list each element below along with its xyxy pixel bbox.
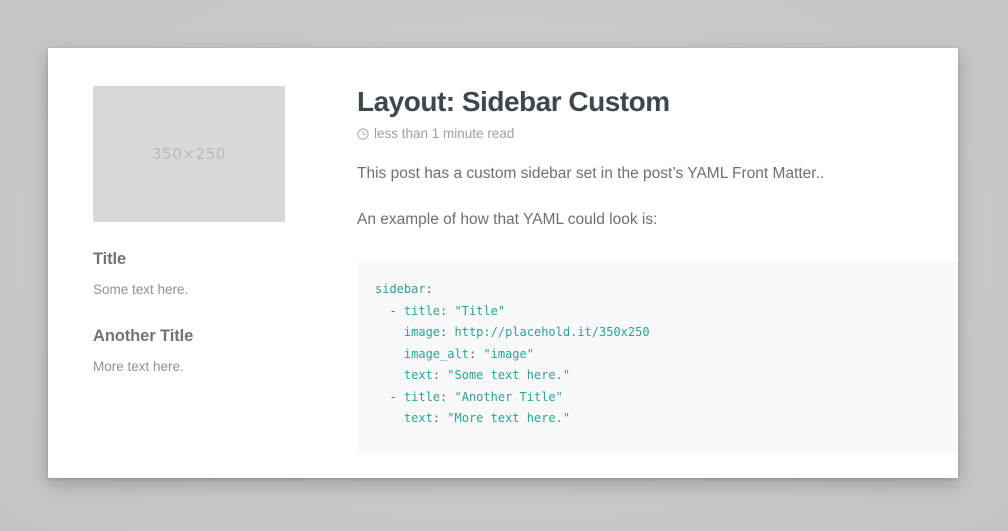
code-block[interactable]: sidebar: - title: "Title" image: http://… [357, 261, 958, 453]
sidebar-block-title: Another Title [93, 327, 285, 346]
sidebar-block-text: Some text here. [93, 281, 285, 300]
clock-icon [357, 128, 369, 140]
post-paragraph: An example of how that YAML could look i… [357, 209, 958, 231]
post-card-inner: 350×250 Title Some text here. Another Ti… [48, 48, 958, 478]
sidebar-block-text: More text here. [93, 358, 285, 377]
post-sidebar: 350×250 Title Some text here. Another Ti… [93, 86, 285, 377]
read-time-label: less than 1 minute read [374, 126, 514, 141]
code-block-content: sidebar: - title: "Title" image: http://… [375, 279, 958, 430]
post-meta: less than 1 minute read [357, 126, 958, 141]
sidebar-image-placeholder-label: 350×250 [152, 145, 226, 163]
sidebar-block: Another Title More text here. [93, 327, 285, 377]
sidebar-image-placeholder: 350×250 [93, 86, 285, 222]
sidebar-block: Title Some text here. [93, 250, 285, 300]
post-main: Layout: Sidebar Custom less than 1 minut… [357, 86, 958, 255]
sidebar-block-title: Title [93, 250, 285, 269]
post-card: 350×250 Title Some text here. Another Ti… [48, 48, 958, 478]
post-paragraph: This post has a custom sidebar set in th… [357, 163, 958, 185]
page-title: Layout: Sidebar Custom [357, 86, 958, 118]
